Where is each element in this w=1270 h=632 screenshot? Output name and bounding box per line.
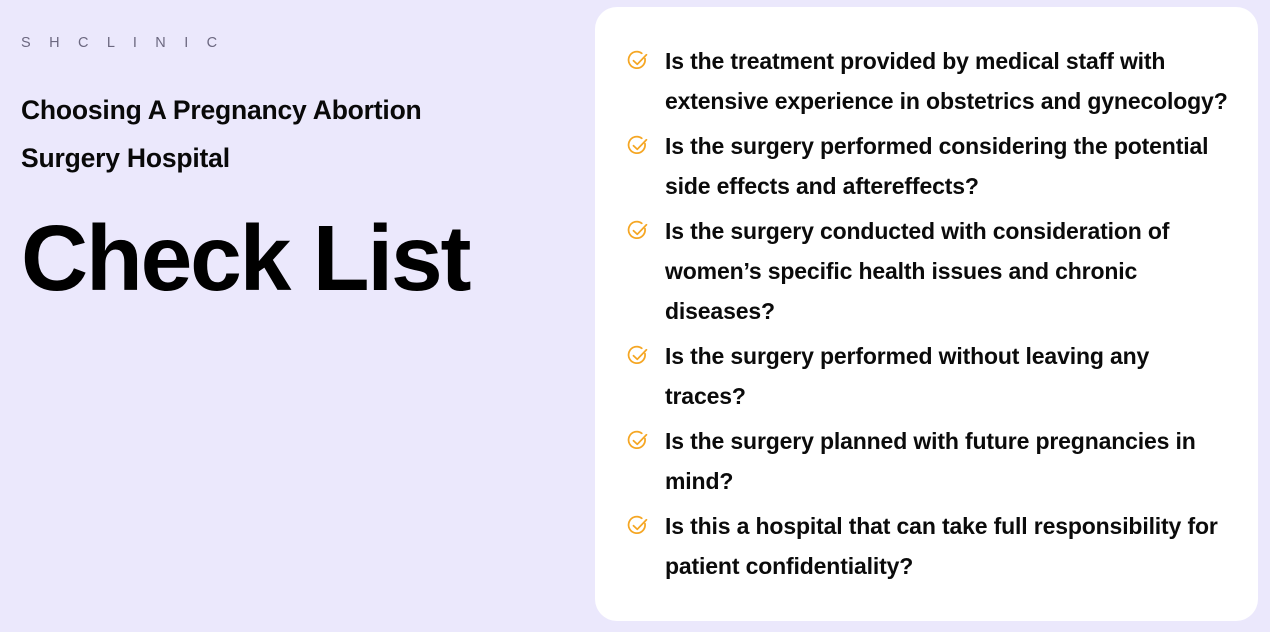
brand-label: S H C L I N I C	[21, 33, 575, 53]
list-item: Is this a hospital that can take full re…	[627, 506, 1230, 586]
check-circle-icon	[627, 430, 649, 452]
list-item: Is the surgery conducted with considerat…	[627, 211, 1230, 331]
list-item-text: Is the surgery conducted with considerat…	[665, 218, 1169, 324]
list-item-text: Is the treatment provided by medical sta…	[665, 48, 1228, 114]
list-item: Is the treatment provided by medical sta…	[627, 41, 1230, 121]
check-circle-icon	[627, 135, 649, 157]
left-panel: S H C L I N I C Choosing A Pregnancy Abo…	[0, 0, 595, 632]
page-title: Check List	[21, 210, 575, 306]
list-item-text: Is the surgery performed considering the…	[665, 133, 1208, 199]
list-item-text: Is this a hospital that can take full re…	[665, 513, 1218, 579]
list-item-text: Is the surgery performed without leaving…	[665, 343, 1149, 409]
check-circle-icon	[627, 515, 649, 537]
list-item-text: Is the surgery planned with future pregn…	[665, 428, 1196, 494]
list-item: Is the surgery planned with future pregn…	[627, 421, 1230, 501]
slide-subtitle: Choosing A Pregnancy Abortion Surgery Ho…	[21, 86, 491, 182]
check-circle-icon	[627, 345, 649, 367]
checklist-slide: S H C L I N I C Choosing A Pregnancy Abo…	[0, 0, 1270, 632]
check-circle-icon	[627, 220, 649, 242]
checklist-card: Is the treatment provided by medical sta…	[595, 7, 1258, 621]
list-item: Is the surgery performed without leaving…	[627, 336, 1230, 416]
check-list: Is the treatment provided by medical sta…	[627, 41, 1230, 586]
check-circle-icon	[627, 50, 649, 72]
list-item: Is the surgery performed considering the…	[627, 126, 1230, 206]
